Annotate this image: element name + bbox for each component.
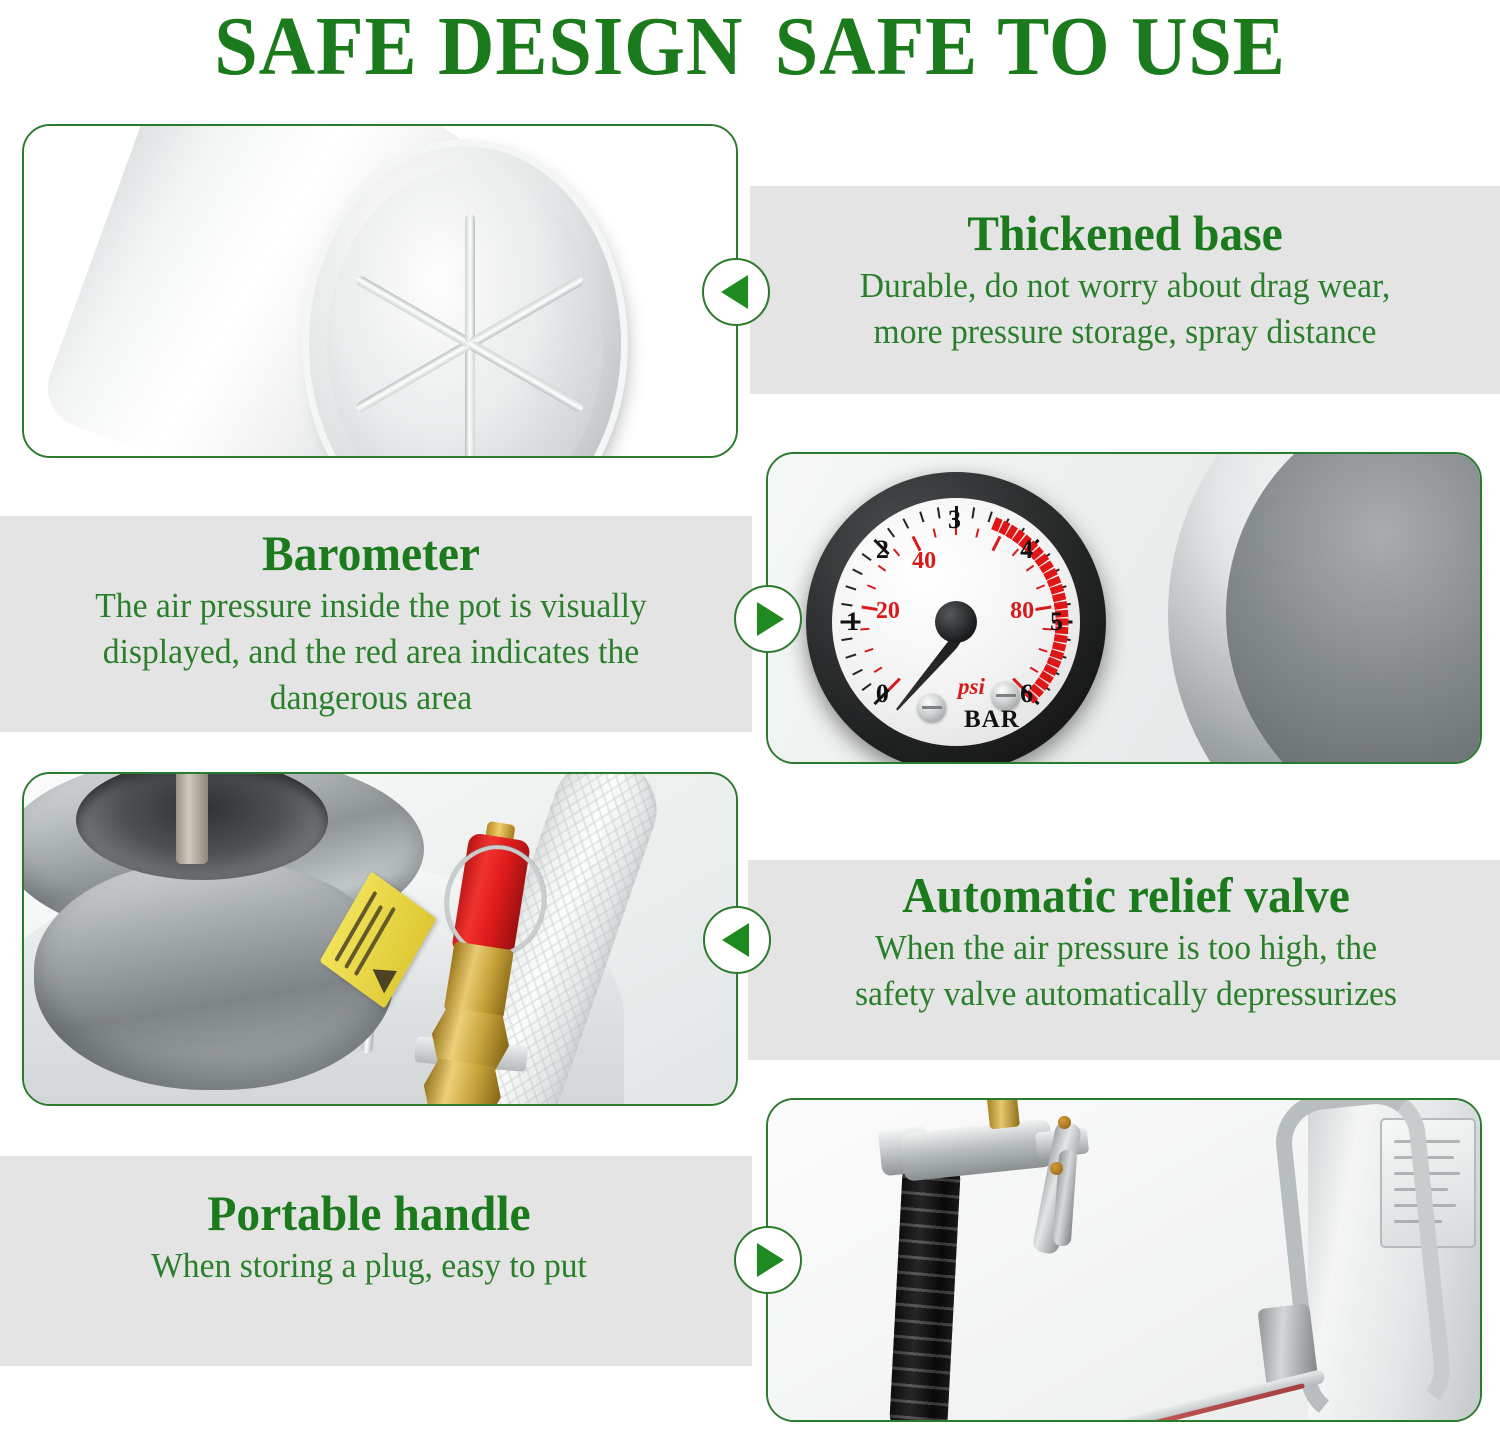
feature-heading: Portable handle [28, 1184, 710, 1242]
gauge-face: psi BAR 0123456204080 [832, 498, 1080, 746]
spray-gun [880, 1104, 1088, 1196]
title-right: SAFE TO USE [775, 4, 1286, 90]
gauge-psi-number: 80 [1010, 599, 1034, 623]
valve-brass-body [444, 941, 514, 1020]
arrow-left-icon-thickened-base[interactable] [702, 258, 770, 326]
page-title: SAFE DESIGN SAFE TO USE [53, 2, 1448, 92]
infographic-page: SAFE DESIGN SAFE TO USE [0, 0, 1500, 1431]
feature-heading: Barometer [26, 524, 716, 582]
star-spoke [465, 214, 475, 344]
feature-text-portable-handle: Portable handle When storing a plug, eas… [10, 1184, 728, 1288]
feature-text-relief-valve: Automatic relief valve When the air pres… [770, 866, 1482, 1016]
left-triangle-glyph [722, 923, 749, 957]
gauge-screw [918, 694, 946, 722]
feature-image-barometer: OIL psi BAR 0123456204080 [766, 452, 1482, 764]
gauge-bar-number: 5 [1050, 609, 1063, 635]
right-triangle-glyph [757, 1243, 784, 1277]
feature-heading: Thickened base [778, 204, 1472, 262]
feature-body-line: more pressure storage, spray distance [775, 310, 1476, 354]
pot-lid-inner [1226, 452, 1482, 764]
gauge-bar-number: 6 [1020, 681, 1033, 707]
feature-body-line: safety valve automatically depressurizes [784, 972, 1468, 1016]
gauge-psi-tick [955, 526, 957, 622]
star-spoke [468, 340, 586, 414]
feature-body-line: When storing a plug, easy to put [24, 1244, 713, 1288]
feature-image-relief-valve [22, 772, 738, 1106]
feature-text-thickened-base: Thickened base Durable, do not worry abo… [760, 204, 1490, 354]
title-left: SAFE DESIGN [214, 4, 743, 90]
gauge-bar-label: BAR [964, 706, 1020, 734]
gun-pivot-screw [1050, 1162, 1063, 1175]
gauge-bar-number: 3 [948, 507, 961, 533]
gauge-bar-number: 1 [846, 609, 859, 635]
feature-body-line: displayed, and the red area indicates th… [23, 630, 720, 674]
gauge-psi-label: psi [958, 674, 985, 700]
pressure-gauge: psi BAR 0123456204080 [806, 472, 1106, 764]
paint-stir-rod [176, 772, 208, 864]
gun-brass-fitting [986, 1098, 1020, 1129]
arrow-right-icon-barometer[interactable] [734, 585, 802, 653]
feature-image-portable-handle [766, 1098, 1482, 1422]
left-triangle-glyph [721, 275, 748, 309]
feature-image-thickened-base [22, 124, 738, 458]
feature-body-line: Durable, do not worry about drag wear, [775, 264, 1476, 308]
gun-pivot-screw [1058, 1116, 1071, 1129]
feature-body-line: The air pressure inside the pot is visua… [23, 584, 720, 628]
gauge-psi-number: 20 [876, 599, 900, 623]
gauge-bar-number: 0 [876, 681, 889, 707]
gauge-bar-number: 2 [876, 537, 889, 563]
star-spoke [355, 340, 473, 414]
warning-triangle-icon [366, 958, 397, 994]
base-disc-inner [327, 168, 603, 458]
right-triangle-glyph [757, 602, 784, 636]
feature-body-line: dangerous area [23, 676, 720, 720]
feature-body-line: When the air pressure is too high, the [784, 926, 1468, 970]
pot-lid: OIL [1168, 452, 1482, 764]
arrow-left-icon-relief-valve[interactable] [703, 906, 771, 974]
gauge-psi-number: 40 [912, 549, 936, 573]
gauge-bar-number: 4 [1020, 537, 1033, 563]
feature-text-barometer: Barometer The air pressure inside the po… [8, 524, 734, 720]
feature-heading: Automatic relief valve [788, 866, 1464, 924]
star-spoke [465, 344, 475, 458]
arrow-right-icon-portable-handle[interactable] [734, 1226, 802, 1294]
star-spoke [355, 275, 473, 349]
star-spoke [468, 275, 586, 349]
